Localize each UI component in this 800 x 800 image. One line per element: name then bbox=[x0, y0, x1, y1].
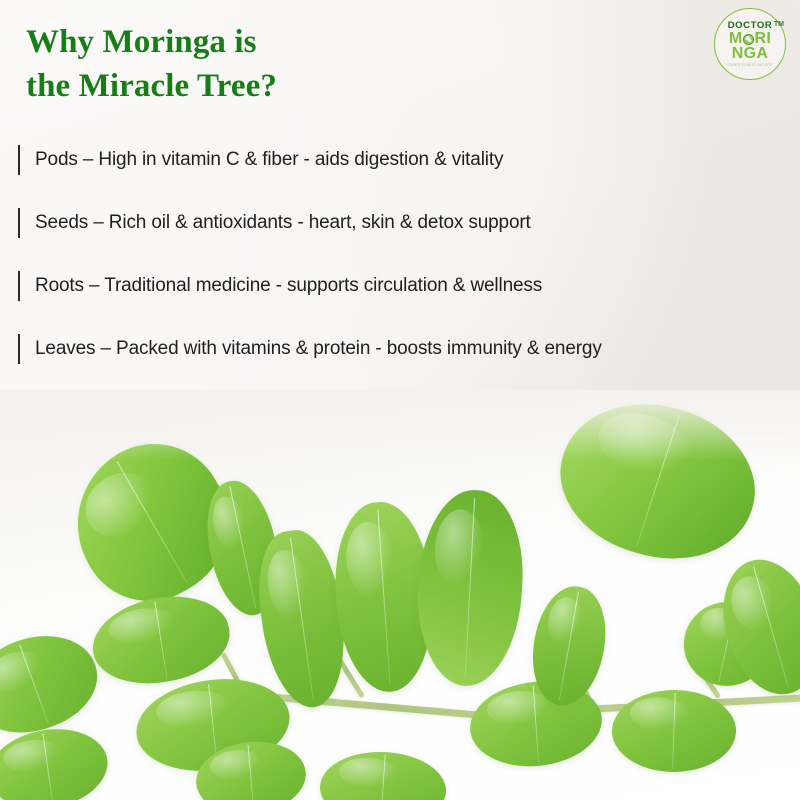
list-item: Roots – Traditional medicine - supports … bbox=[18, 270, 758, 302]
leaf bbox=[413, 487, 527, 688]
list-item: Pods – High in vitamin C & fiber - aids … bbox=[18, 144, 758, 176]
page-title-line-2: the Miracle Tree? bbox=[26, 64, 456, 108]
logo-tagline: NATURE'S PUREST NUTRITION bbox=[723, 63, 777, 67]
leaf bbox=[318, 748, 449, 800]
logo-moringa-line-2: NGA bbox=[732, 47, 768, 62]
page-title: Why Moringa is the Miracle Tree? bbox=[26, 20, 456, 108]
bullet-bar-icon bbox=[18, 208, 20, 238]
leaf bbox=[0, 722, 113, 800]
brand-logo[interactable]: DOCTOR M RI NGA NATURE'S PUREST NUTRITIO… bbox=[714, 8, 786, 80]
logo-inner: DOCTOR M RI NGA NATURE'S PUREST NUTRITIO… bbox=[719, 13, 781, 75]
leaf bbox=[542, 390, 775, 583]
list-item-label: Pods – High in vitamin C & fiber - aids … bbox=[35, 149, 503, 171]
leaf bbox=[86, 588, 235, 693]
list-item-label: Seeds – Rich oil & antioxidants - heart,… bbox=[35, 212, 531, 234]
list-item-label: Roots – Traditional medicine - supports … bbox=[35, 275, 542, 297]
bullet-bar-icon bbox=[18, 145, 20, 175]
poster-canvas: Why Moringa is the Miracle Tree? DOCTOR … bbox=[0, 0, 800, 800]
benefits-list: Pods – High in vitamin C & fiber - aids … bbox=[18, 144, 758, 396]
list-item-label: Leaves – Packed with vitamins & protein … bbox=[35, 338, 602, 360]
bullet-bar-icon bbox=[18, 334, 20, 364]
list-item: Seeds – Rich oil & antioxidants - heart,… bbox=[18, 207, 758, 239]
list-item: Leaves – Packed with vitamins & protein … bbox=[18, 333, 758, 365]
page-title-line-1: Why Moringa is bbox=[26, 20, 456, 64]
moringa-leaves-photo bbox=[0, 390, 800, 800]
bullet-bar-icon bbox=[18, 271, 20, 301]
leaf-icon bbox=[743, 34, 754, 45]
trademark-icon: TM bbox=[774, 21, 784, 28]
